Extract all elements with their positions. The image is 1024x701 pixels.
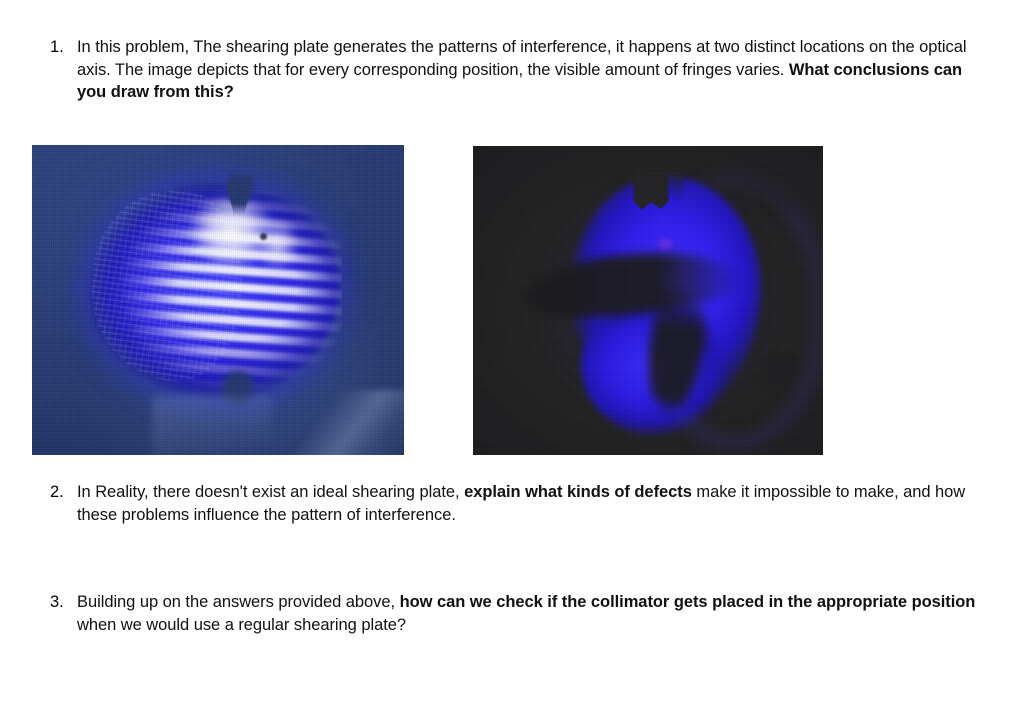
question-text-1: In this problem, The shearing plate gene… — [77, 36, 973, 104]
question-number-3: 3. — [40, 591, 77, 614]
question-number-2: 2. — [40, 481, 77, 504]
text-run: In Reality, there doesn't exist an ideal… — [77, 483, 464, 501]
sensor-grain-right — [473, 146, 823, 455]
text-run: Building up on the answers provided abov… — [77, 593, 400, 611]
sensor-grain-left — [32, 145, 404, 455]
emphasis-run: explain what kinds of defects — [464, 483, 692, 501]
text-run: when we would use a regular shearing pla… — [77, 616, 406, 634]
question-item-1: 1. In this problem, The shearing plate g… — [40, 36, 990, 104]
question-text-3: Building up on the answers provided abov… — [77, 591, 983, 636]
question-text-2: In Reality, there doesn't exist an ideal… — [77, 481, 973, 526]
question-item-3: 3. Building up on the answers provided a… — [40, 591, 1000, 636]
figure-right-interferogram[interactable] — [473, 146, 823, 455]
question-number-1: 1. — [40, 36, 77, 59]
document-page: 1. In this problem, The shearing plate g… — [0, 0, 1024, 701]
question-item-2: 2. In Reality, there doesn't exist an id… — [40, 481, 990, 526]
figure-left-interferogram[interactable] — [32, 145, 404, 455]
emphasis-run: how can we check if the collimator gets … — [400, 593, 976, 611]
